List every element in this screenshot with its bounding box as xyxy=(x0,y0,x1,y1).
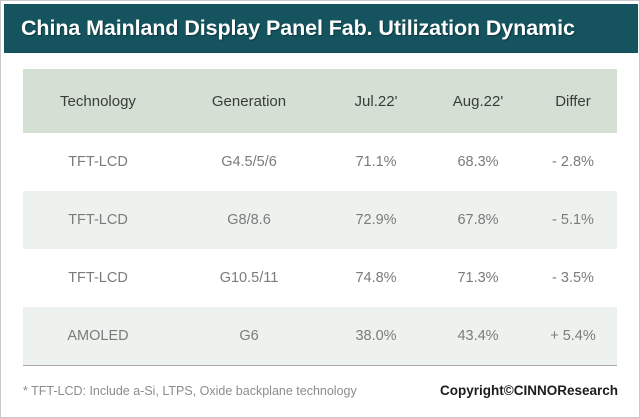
cell-differ: - 3.5% xyxy=(529,249,617,307)
cell-jul: 71.1% xyxy=(325,133,427,191)
table-row: TFT-LCD G4.5/5/6 71.1% 68.3% - 2.8% xyxy=(23,133,617,191)
cell-aug: 43.4% xyxy=(427,307,529,366)
footer: * TFT-LCD: Include a-Si, LTPS, Oxide bac… xyxy=(23,383,618,398)
footnote-text: * TFT-LCD: Include a-Si, LTPS, Oxide bac… xyxy=(23,384,357,398)
cell-jul: 74.8% xyxy=(325,249,427,307)
slide-root: China Mainland Display Panel Fab. Utiliz… xyxy=(0,0,640,418)
cell-generation: G4.5/5/6 xyxy=(173,133,325,191)
title-bar: China Mainland Display Panel Fab. Utiliz… xyxy=(4,4,638,53)
table-header: Technology Generation Jul.22' Aug.22' Di… xyxy=(23,69,617,133)
column-header-generation: Generation xyxy=(173,69,325,133)
cell-differ: - 5.1% xyxy=(529,191,617,249)
copyright-text: Copyright©CINNOResearch xyxy=(440,383,618,398)
cell-aug: 68.3% xyxy=(427,133,529,191)
utilization-table: Technology Generation Jul.22' Aug.22' Di… xyxy=(23,69,617,366)
cell-jul: 38.0% xyxy=(325,307,427,366)
table-row: TFT-LCD G10.5/11 74.8% 71.3% - 3.5% xyxy=(23,249,617,307)
cell-generation: G8/8.6 xyxy=(173,191,325,249)
table-body: TFT-LCD G4.5/5/6 71.1% 68.3% - 2.8% TFT-… xyxy=(23,133,617,366)
cell-technology: AMOLED xyxy=(23,307,173,366)
column-header-aug: Aug.22' xyxy=(427,69,529,133)
table-row: AMOLED G6 38.0% 43.4% + 5.4% xyxy=(23,307,617,366)
cell-technology: TFT-LCD xyxy=(23,249,173,307)
cell-technology: TFT-LCD xyxy=(23,133,173,191)
table-header-row: Technology Generation Jul.22' Aug.22' Di… xyxy=(23,69,617,133)
cell-generation: G6 xyxy=(173,307,325,366)
cell-differ: - 2.8% xyxy=(529,133,617,191)
utilization-table-container: Technology Generation Jul.22' Aug.22' Di… xyxy=(23,69,617,366)
cell-technology: TFT-LCD xyxy=(23,191,173,249)
cell-jul: 72.9% xyxy=(325,191,427,249)
page-title: China Mainland Display Panel Fab. Utiliz… xyxy=(21,16,575,41)
column-header-differ: Differ xyxy=(529,69,617,133)
cell-differ: + 5.4% xyxy=(529,307,617,366)
cell-aug: 67.8% xyxy=(427,191,529,249)
column-header-technology: Technology xyxy=(23,69,173,133)
cell-generation: G10.5/11 xyxy=(173,249,325,307)
column-header-jul: Jul.22' xyxy=(325,69,427,133)
table-row: TFT-LCD G8/8.6 72.9% 67.8% - 5.1% xyxy=(23,191,617,249)
cell-aug: 71.3% xyxy=(427,249,529,307)
